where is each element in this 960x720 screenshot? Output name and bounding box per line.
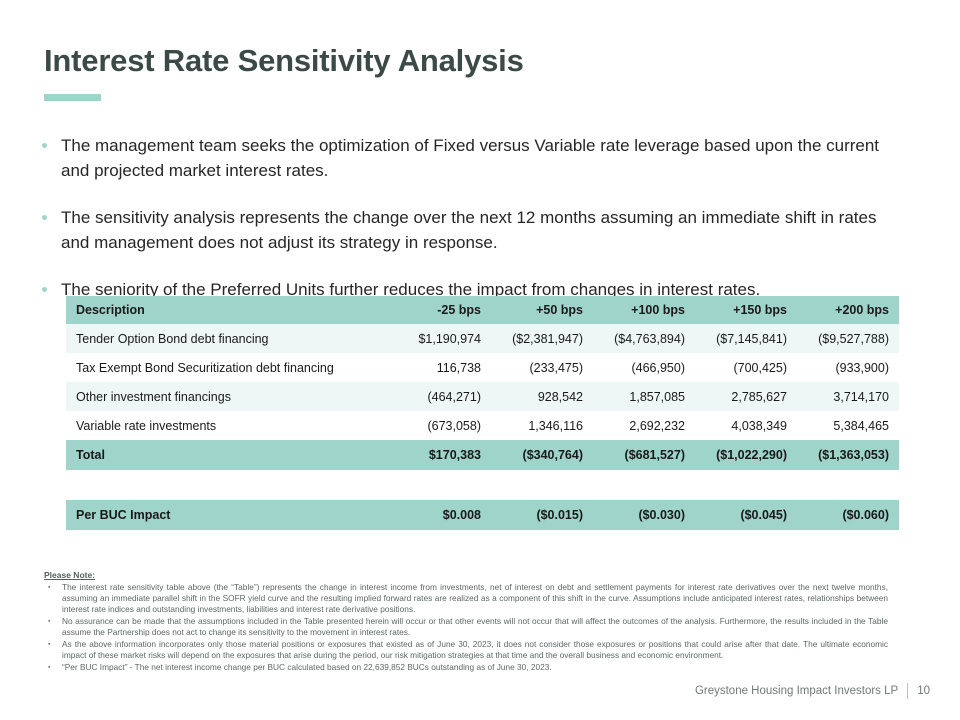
bullet-dot-icon xyxy=(42,143,47,148)
per-buc-value: ($0.030) xyxy=(593,500,695,530)
footnote-item: ▪ No assurance can be made that the assu… xyxy=(44,616,904,638)
bullet-dot-icon xyxy=(42,287,47,292)
per-buc-value: $0.008 xyxy=(389,500,491,530)
list-item: The management team seeks the optimizati… xyxy=(42,133,888,183)
column-header-minus25bps: -25 bps xyxy=(389,296,491,324)
bullet-text: The management team seeks the optimizati… xyxy=(61,133,888,183)
title-block: Interest Rate Sensitivity Analysis xyxy=(44,42,904,101)
footnotes-block: Please Note: ▪ The interest rate sensiti… xyxy=(44,570,904,674)
footnote-text: No assurance can be made that the assump… xyxy=(62,616,904,638)
cell-value: (700,425) xyxy=(695,353,797,382)
cell-value: (673,058) xyxy=(389,411,491,440)
total-value: ($681,527) xyxy=(593,440,695,470)
square-bullet-icon: ▪ xyxy=(44,582,62,593)
cell-value: ($4,763,894) xyxy=(593,324,695,353)
cell-value: 1,346,116 xyxy=(491,411,593,440)
list-item: The sensitivity analysis represents the … xyxy=(42,205,888,255)
table-row: Tax Exempt Bond Securitization debt fina… xyxy=(66,353,899,382)
cell-value: 2,785,627 xyxy=(695,382,797,411)
footnote-item: ▪ The interest rate sensitivity table ab… xyxy=(44,582,904,615)
cell-value: 1,857,085 xyxy=(593,382,695,411)
bullet-dot-icon xyxy=(42,215,47,220)
total-value: ($340,764) xyxy=(491,440,593,470)
per-buc-value: ($0.015) xyxy=(491,500,593,530)
cell-value: 2,692,232 xyxy=(593,411,695,440)
cell-value: 4,038,349 xyxy=(695,411,797,440)
footnote-item: ▪ As the above information incorporates … xyxy=(44,639,904,661)
total-value: $170,383 xyxy=(389,440,491,470)
column-header-plus200bps: +200 bps xyxy=(797,296,899,324)
per-buc-value: ($0.045) xyxy=(695,500,797,530)
per-buc-impact-table: Per BUC Impact $0.008 ($0.015) ($0.030) … xyxy=(66,500,899,530)
sensitivity-table: Description -25 bps +50 bps +100 bps +15… xyxy=(66,296,899,470)
footer-company-name: Greystone Housing Impact Investors LP xyxy=(695,685,898,697)
total-value: ($1,022,290) xyxy=(695,440,797,470)
column-header-plus150bps: +150 bps xyxy=(695,296,797,324)
page-title: Interest Rate Sensitivity Analysis xyxy=(44,42,904,80)
cell-value: (233,475) xyxy=(491,353,593,382)
title-accent-bar xyxy=(44,94,101,101)
row-label: Other investment financings xyxy=(66,382,389,411)
square-bullet-icon: ▪ xyxy=(44,616,62,627)
cell-value: ($9,527,788) xyxy=(797,324,899,353)
row-label: Tender Option Bond debt financing xyxy=(66,324,389,353)
column-header-plus50bps: +50 bps xyxy=(491,296,593,324)
slide-canvas: Interest Rate Sensitivity Analysis The m… xyxy=(0,0,960,720)
cell-value: (464,271) xyxy=(389,382,491,411)
footnote-text: As the above information incorporates on… xyxy=(62,639,904,661)
cell-value: 928,542 xyxy=(491,382,593,411)
row-label: Variable rate investments xyxy=(66,411,389,440)
cell-value: 5,384,465 xyxy=(797,411,899,440)
column-header-plus100bps: +100 bps xyxy=(593,296,695,324)
cell-value: (933,900) xyxy=(797,353,899,382)
page-number: 10 xyxy=(917,685,930,697)
square-bullet-icon: ▪ xyxy=(44,639,62,650)
cell-value: ($2,381,947) xyxy=(491,324,593,353)
table-total-row: Total $170,383 ($340,764) ($681,527) ($1… xyxy=(66,440,899,470)
cell-value: 3,714,170 xyxy=(797,382,899,411)
slide-footer: Greystone Housing Impact Investors LP 10 xyxy=(695,683,930,699)
column-header-description: Description xyxy=(66,296,389,324)
footnote-text: “Per BUC Impact” - The net interest inco… xyxy=(62,662,904,673)
row-label: Tax Exempt Bond Securitization debt fina… xyxy=(66,353,389,382)
cell-value: (466,950) xyxy=(593,353,695,382)
square-bullet-icon: ▪ xyxy=(44,662,62,673)
cell-value: ($7,145,841) xyxy=(695,324,797,353)
total-value: ($1,363,053) xyxy=(797,440,899,470)
cell-value: $1,190,974 xyxy=(389,324,491,353)
table-row: Other investment financings (464,271) 92… xyxy=(66,382,899,411)
per-buc-row: Per BUC Impact $0.008 ($0.015) ($0.030) … xyxy=(66,500,899,530)
footnote-item: ▪ “Per BUC Impact” - The net interest in… xyxy=(44,662,904,673)
per-buc-label: Per BUC Impact xyxy=(66,500,389,530)
footnote-text: The interest rate sensitivity table abov… xyxy=(62,582,904,615)
per-buc-value: ($0.060) xyxy=(797,500,899,530)
table-row: Variable rate investments (673,058) 1,34… xyxy=(66,411,899,440)
bullet-list: The management team seeks the optimizati… xyxy=(42,133,888,302)
cell-value: 116,738 xyxy=(389,353,491,382)
bullet-text: The sensitivity analysis represents the … xyxy=(61,205,888,255)
table-header-row: Description -25 bps +50 bps +100 bps +15… xyxy=(66,296,899,324)
total-label: Total xyxy=(66,440,389,470)
footnotes-heading: Please Note: xyxy=(44,570,904,580)
footer-divider xyxy=(907,683,908,699)
table-row: Tender Option Bond debt financing $1,190… xyxy=(66,324,899,353)
